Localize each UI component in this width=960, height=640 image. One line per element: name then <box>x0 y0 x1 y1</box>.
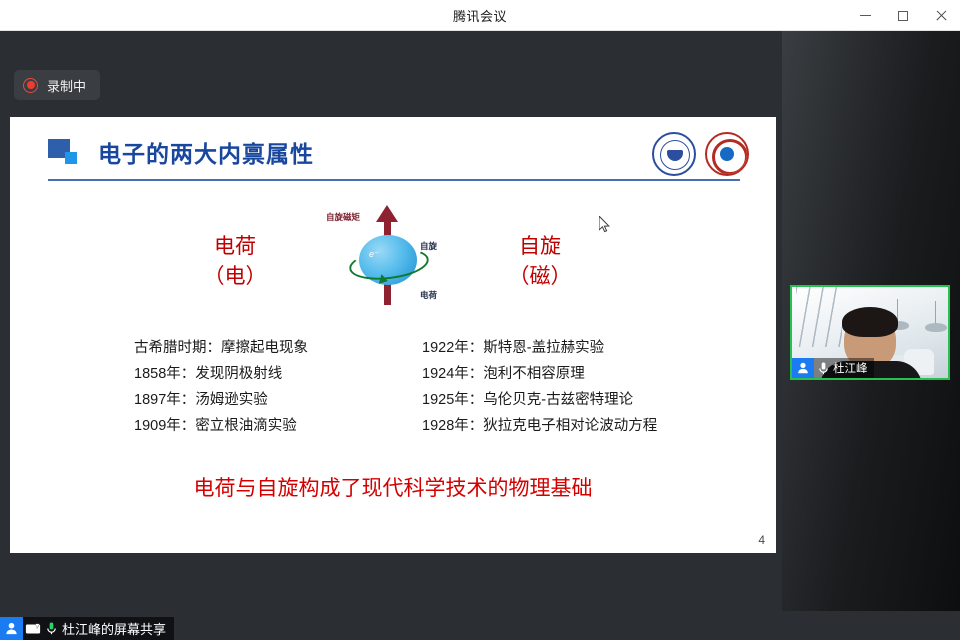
window-controls <box>846 0 960 31</box>
recording-badge[interactable]: 录制中 <box>14 70 100 100</box>
recording-label: 录制中 <box>47 76 86 95</box>
microphone-icon <box>42 617 61 640</box>
video-name-label: 杜江峰 <box>792 358 874 378</box>
heading-spin-line2: （磁） <box>480 262 600 292</box>
close-icon <box>935 10 947 22</box>
maximize-button[interactable] <box>884 0 922 31</box>
ustc-logo-icon <box>652 132 696 176</box>
blue-square-bullet-icon <box>48 139 78 165</box>
tencent-meeting-window: 腾讯会议 录制中 电子的两大内禀属性 <box>0 0 960 640</box>
spin-arrow-head-icon <box>376 205 398 222</box>
heading-spin-line1: 自旋 <box>480 232 600 262</box>
slide-title: 电子的两大内禀属性 <box>98 135 314 169</box>
label-spin-magnetic-moment: 自旋磁矩 <box>326 211 360 223</box>
maximize-icon <box>898 11 908 21</box>
list-item: 1909年：密立根油滴实验 <box>134 413 308 439</box>
meeting-stage: 录制中 电子的两大内禀属性 电荷 （电） 自旋 （磁） <box>0 31 960 640</box>
list-item: 古希腊时期：摩擦起电现象 <box>134 335 308 361</box>
screen-share-icon <box>23 617 42 640</box>
microphone-icon <box>817 361 830 376</box>
title-divider <box>48 179 740 181</box>
recording-dot-icon <box>23 78 38 93</box>
screen-share-status-bar[interactable]: 杜江峰的屏幕共享 <box>0 617 174 640</box>
electron-label: e⁻ <box>369 249 379 260</box>
heading-charge-line1: 电荷 <box>175 232 295 262</box>
history-list-charge: 古希腊时期：摩擦起电现象 1858年：发现阴极射线 1897年：汤姆逊实验 19… <box>134 335 308 439</box>
video-window-blinds <box>796 287 842 347</box>
heading-charge-line2: （电） <box>175 262 295 292</box>
person-icon <box>792 358 814 378</box>
participant-name: 杜江峰 <box>833 360 868 376</box>
video-person-hair <box>842 307 898 337</box>
screen-share-text: 杜江峰的屏幕共享 <box>62 619 166 638</box>
minimize-icon <box>860 15 871 16</box>
list-item: 1924年：泡利不相容原理 <box>422 361 657 387</box>
list-item: 1928年：狄拉克电子相对论波动方程 <box>422 413 657 439</box>
label-charge: 电荷 <box>420 289 437 301</box>
mouse-pointer-icon <box>599 216 611 233</box>
close-button[interactable] <box>922 0 960 31</box>
label-spin: 自旋 <box>420 240 437 252</box>
slide-title-row: 电子的两大内禀属性 <box>48 135 314 169</box>
slide-page-number: 4 <box>758 533 765 547</box>
participant-video-tile[interactable]: 杜江峰 <box>790 285 950 380</box>
history-list-spin: 1922年：斯特恩-盖拉赫实验 1924年：泡利不相容原理 1925年：乌伦贝克… <box>422 335 657 439</box>
heading-charge: 电荷 （电） <box>175 232 295 293</box>
slide-logos <box>652 132 749 176</box>
list-item: 1925年：乌伦贝克-古兹密特理论 <box>422 387 657 413</box>
window-titlebar: 腾讯会议 <box>0 0 960 31</box>
person-icon <box>0 617 23 640</box>
slide-conclusion: 电荷与自旋构成了现代科学技术的物理基础 <box>10 472 776 502</box>
window-title: 腾讯会议 <box>453 6 507 25</box>
electron-spin-diagram: e⁻ 自旋磁矩 自旋 电荷 <box>328 205 450 310</box>
list-item: 1858年：发现阴极射线 <box>134 361 308 387</box>
video-lamp <box>925 323 947 332</box>
heading-spin: 自旋 （磁） <box>480 232 600 293</box>
institute-logo-icon <box>705 132 749 176</box>
shared-slide[interactable]: 电子的两大内禀属性 电荷 （电） 自旋 （磁） <box>10 117 776 553</box>
list-item: 1922年：斯特恩-盖拉赫实验 <box>422 335 657 361</box>
minimize-button[interactable] <box>846 0 884 31</box>
list-item: 1897年：汤姆逊实验 <box>134 387 308 413</box>
